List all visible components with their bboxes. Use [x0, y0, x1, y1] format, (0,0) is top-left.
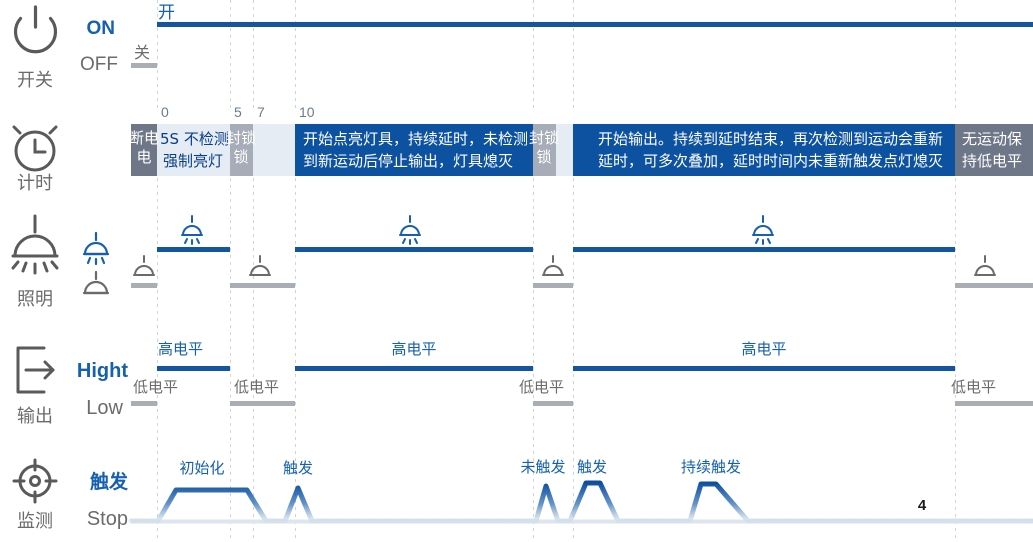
out-high-3 — [573, 366, 955, 371]
lamp-marker-off-1 — [134, 256, 154, 275]
row-detection-state-high: 触发 — [90, 470, 129, 493]
row-lighting: 照明 — [13, 216, 1033, 310]
axis-tick-0: 0 — [161, 104, 169, 120]
switch-high-bar — [157, 22, 1033, 27]
lamp-marker-on-2 — [400, 216, 420, 244]
ceiling-lamp-icon — [13, 216, 57, 273]
row-output-caption: 输出 — [17, 406, 53, 427]
lamp-marker-off-2 — [250, 256, 270, 275]
page-number: 4 — [918, 497, 927, 514]
lockout-cell-2-label-2: 锁 — [536, 148, 551, 166]
switch-inline-low-label: 关 — [134, 43, 150, 62]
out-low-1 — [131, 401, 157, 406]
detection-waveform — [131, 483, 1033, 521]
diagram-canvas: 开关 ON OFF 开 关 计时 0 5 7 10 — [0, 0, 1033, 542]
row-switch-state-low: OFF — [80, 54, 118, 75]
power-icon — [16, 7, 56, 52]
lamp-marker-on-1 — [182, 216, 202, 244]
power-off-cell-label-2: 电 — [136, 148, 151, 166]
out-high-2 — [295, 366, 533, 371]
row-switch: 开关 ON OFF 开 关 — [16, 3, 1033, 91]
out-low-3 — [533, 401, 573, 406]
idle-cell-1 — [253, 124, 295, 176]
lamp-high-2 — [295, 247, 533, 252]
lamp-low-1 — [131, 283, 157, 288]
out-low-2 — [230, 401, 295, 406]
lamp-off-icon — [84, 272, 108, 293]
lockout-cell-1-label-2: 锁 — [233, 148, 248, 166]
lamp-marker-on-3 — [753, 216, 773, 244]
light-on-cell-label-2: 到新运动后停止输出，灯具熄灭 — [303, 152, 513, 170]
axis-tick-7: 7 — [257, 104, 265, 120]
row-switch-caption: 开关 — [17, 70, 53, 91]
switch-inline-high-label: 开 — [158, 3, 175, 23]
row-output: 输出 Hight Low 高电平 高电平 高电平 低电平 低电平 低电平 低电平 — [17, 340, 1033, 427]
out-high-1-label: 高电平 — [158, 340, 203, 358]
output-arrow-icon — [18, 348, 53, 392]
switch-low-bar — [131, 63, 157, 68]
output-cell-label-2: 延时，可多次叠加，延时时间内未重新触发点灯熄灭 — [598, 152, 943, 170]
pulse-init-label: 初始化 — [179, 459, 224, 477]
row-detection-state-low: Stop — [87, 508, 128, 530]
out-high-2-label: 高电平 — [391, 340, 436, 358]
light-on-cell-label-1: 开始点亮灯具，持续延时，未检测 — [303, 130, 528, 148]
pulse-trigger-2-label: 触发 — [577, 458, 607, 476]
lamp-high-1 — [157, 247, 230, 252]
pulse-untriggered-label: 未触发 — [520, 458, 565, 476]
lockout-cell-2-label-1: 封锁 — [529, 129, 559, 147]
no-motion-cell-label-1: 无运动保 — [962, 130, 1022, 148]
out-low-3-label: 低电平 — [519, 378, 564, 396]
row-detection: 监测 触发 Stop 初始化 触发 未触发 触发 持续触发 4 — [14, 458, 1033, 532]
row-lighting-caption: 照明 — [17, 289, 53, 310]
lamp-low-4 — [955, 283, 1033, 288]
row-switch-state-high: ON — [87, 18, 116, 39]
lamp-marker-off-3 — [543, 256, 563, 275]
out-high-1 — [157, 366, 230, 371]
axis-tick-5: 5 — [234, 104, 242, 120]
row-timing: 计时 0 5 7 10 断电 电 5S 不检测 强制亮灯 封锁 锁 开始点亮灯具… — [14, 104, 1033, 194]
row-output-state-low: Low — [86, 397, 123, 419]
no-motion-cell-label-2: 持低电平 — [962, 152, 1022, 170]
lamp-low-3 — [533, 283, 573, 288]
lamp-on-icon — [84, 233, 108, 264]
target-icon — [14, 460, 56, 502]
lamp-high-3 — [573, 247, 955, 252]
row-timing-caption: 计时 — [17, 173, 53, 194]
row-output-state-high: Hight — [77, 360, 128, 382]
power-off-cell-label-1: 断电 — [129, 129, 159, 147]
out-high-3-label: 高电平 — [741, 340, 786, 358]
out-low-4 — [955, 401, 1033, 406]
pulse-trigger-1-label: 触发 — [283, 459, 313, 477]
out-low-4-label: 低电平 — [951, 378, 996, 396]
force-on-cell-label-1: 5S 不检测 — [160, 130, 229, 148]
timing-diagram-page: 开关 ON OFF 开 关 计时 0 5 7 10 — [0, 0, 1033, 542]
out-low-1-label: 低电平 — [133, 378, 178, 396]
lockout-cell-1-label-1: 封锁 — [226, 129, 256, 147]
pulse-sustained-label: 持续触发 — [681, 458, 741, 476]
row-detection-caption: 监测 — [17, 511, 53, 532]
lamp-marker-off-4 — [975, 256, 995, 275]
lamp-low-2 — [230, 283, 295, 288]
out-low-2-label: 低电平 — [234, 378, 279, 396]
axis-ticks: 0 5 7 10 — [161, 104, 315, 120]
force-on-cell-label-2: 强制亮灯 — [163, 152, 223, 170]
axis-tick-10: 10 — [299, 104, 315, 120]
output-cell-label-1: 开始输出。持续到延时结束，再次检测到运动会重新 — [598, 130, 943, 148]
alarm-clock-icon — [14, 127, 56, 170]
